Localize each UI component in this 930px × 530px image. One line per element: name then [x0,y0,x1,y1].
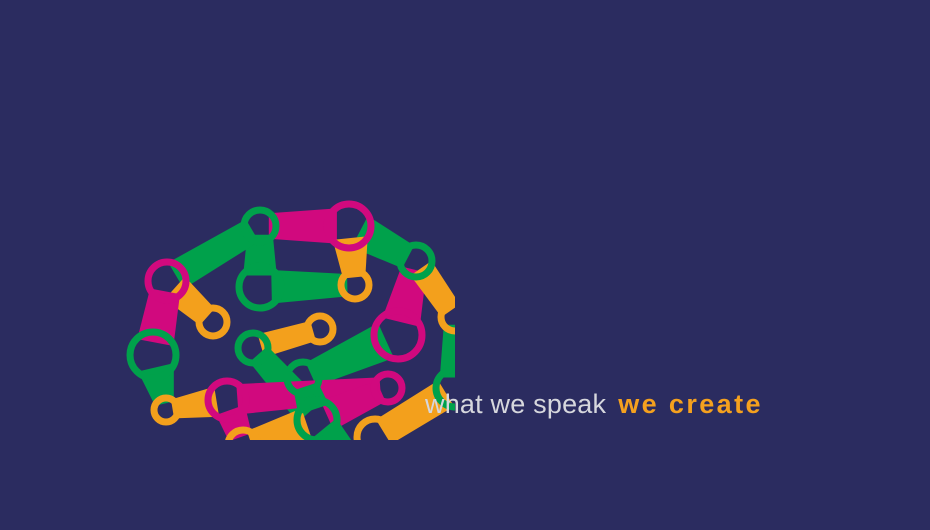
logo-links [137,208,455,440]
tagline: what we speak we create [425,389,763,429]
logo-canvas: what we speak we create [0,0,930,530]
tagline-accent-text: we create [618,389,763,420]
tagline-primary-text: what we speak [425,389,606,420]
brain-network-logo [55,95,455,440]
node-n7 [199,308,227,336]
